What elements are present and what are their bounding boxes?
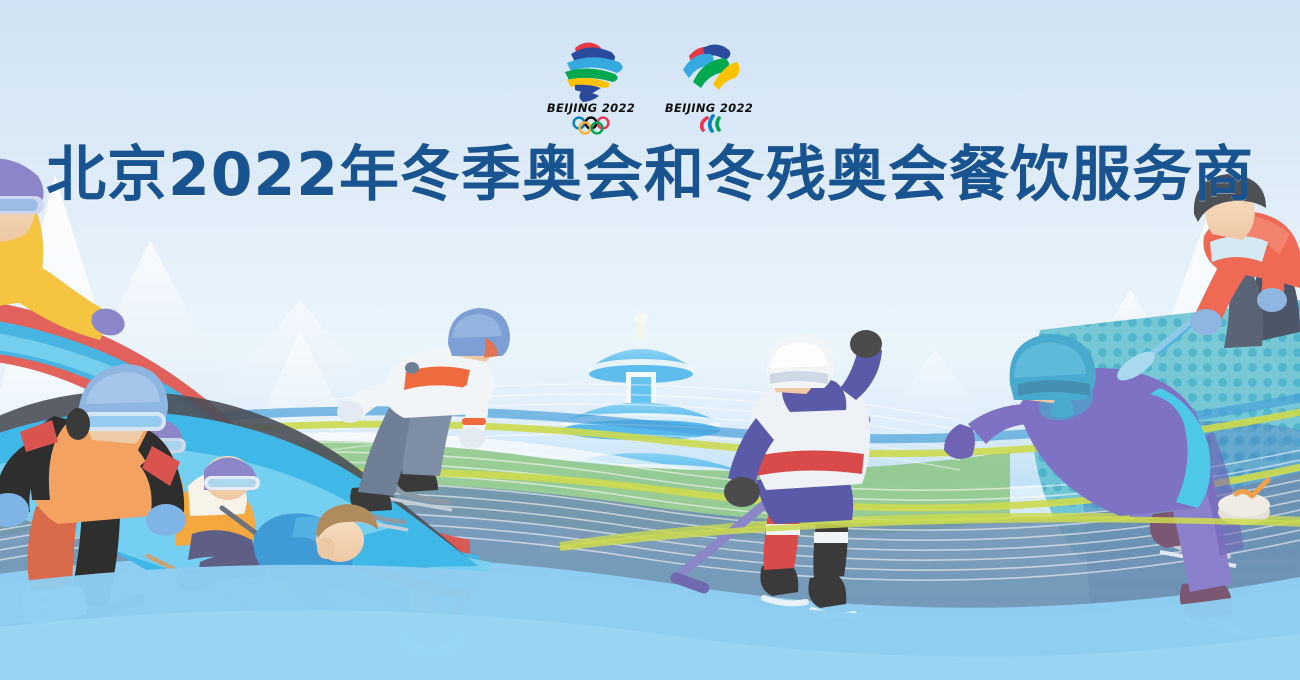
olympic-emblem: BEIJING 2022 [541, 30, 641, 135]
beijing-2022-banner: BEIJING 2022 [0, 0, 1300, 680]
olympic-wordmark: BEIJING 2022 [547, 101, 635, 115]
paralympic-emblem-svg: BEIJING 2022 [659, 30, 759, 135]
banner-title-wrap: 北京2022年冬季奥会和冬残奥会餐饮服务商 [0, 143, 1300, 208]
banner-title: 北京2022年冬季奥会和冬残奥会餐饮服务商 [46, 143, 1254, 208]
olympic-mark-icon [565, 42, 623, 102]
olympic-emblem-svg: BEIJING 2022 [541, 30, 641, 135]
agitos-icon [702, 116, 719, 131]
paralympic-mark-icon [683, 44, 740, 90]
paralympic-emblem: BEIJING 2022 [659, 30, 759, 135]
olympic-rings-icon [574, 118, 609, 134]
paralympic-wordmark: BEIJING 2022 [665, 101, 753, 115]
emblem-row: BEIJING 2022 [0, 30, 1300, 135]
